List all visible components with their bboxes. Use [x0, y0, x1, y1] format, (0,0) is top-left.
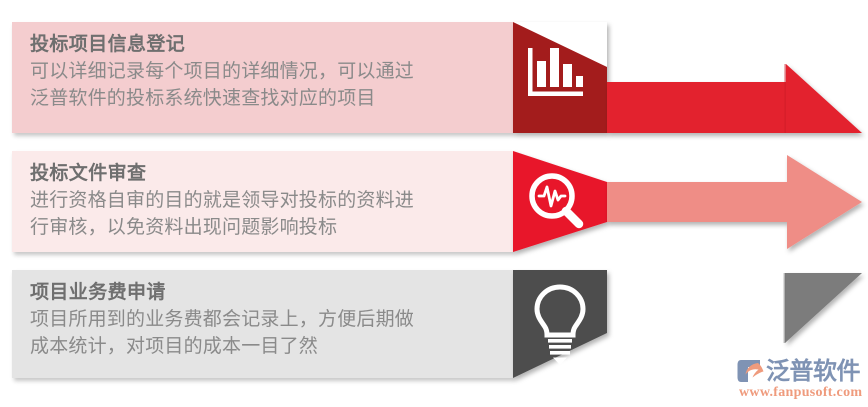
- step-3-body-line-1: 项目所用到的业务费都会记录上，方便后期做: [30, 307, 497, 334]
- step-1-title: 投标项目信息登记: [30, 32, 497, 59]
- step-3-body: 项目所用到的业务费都会记录上，方便后期做 成本统计，对项目的成本一目了然: [30, 307, 497, 361]
- step-2-body: 进行资格自审的目的就是领导对投标的资料进 行审核，以免资料出现问题影响投标: [30, 188, 497, 242]
- infographic-canvas: 投标项目信息登记 可以详细记录每个项目的详细情况，可以通过 泛普软件的投标系统快…: [0, 0, 868, 407]
- step-2-text-panel: 投标文件审查 进行资格自审的目的就是领导对投标的资料进 行审核，以免资料出现问题…: [12, 151, 513, 252]
- bar-chart-icon: [528, 48, 583, 96]
- step-1-body-line-2: 泛普软件的投标系统快速查找对应的项目: [30, 86, 497, 113]
- step-1-body-line-1: 可以详细记录每个项目的详细情况，可以通过: [30, 59, 497, 86]
- step-1-icon-block-diagonal: [513, 22, 607, 67]
- step-2-body-line-2: 行审核，以免资料出现问题影响投标: [30, 215, 497, 242]
- step-1-body: 可以详细记录每个项目的详细情况，可以通过 泛普软件的投标系统快速查找对应的项目: [30, 59, 497, 113]
- step-1-icon-block: [513, 22, 607, 133]
- step-2-title: 投标文件审查: [30, 161, 497, 188]
- step-3-body-line-2: 成本统计，对项目的成本一目了然: [30, 334, 497, 361]
- step-3-title: 项目业务费申请: [30, 280, 497, 307]
- brand-logo-name: 泛普软件: [766, 358, 860, 384]
- step-1-arrow: [607, 64, 862, 133]
- magnifier-pulse-icon: [532, 176, 579, 224]
- brand-logo-url: www.fanpusoft.com: [739, 385, 862, 401]
- arrow-graphics-layer: [495, 0, 868, 407]
- step-1-arrow-seam: [784, 64, 786, 133]
- step-3-text-panel: 项目业务费申请 项目所用到的业务费都会记录上，方便后期做 成本统计，对项目的成本…: [12, 270, 513, 378]
- brand-logo-top: 泛普软件: [737, 356, 860, 386]
- step-3-icon-block: [513, 270, 607, 378]
- step-1-text-panel: 投标项目信息登记 可以详细记录每个项目的详细情况，可以通过 泛普软件的投标系统快…: [12, 22, 513, 133]
- fanpu-swoosh-logo-icon: [737, 358, 764, 384]
- step-2-arrow: [607, 155, 862, 249]
- step-2-body-line-1: 进行资格自审的目的就是领导对投标的资料进: [30, 188, 497, 215]
- lightbulb-icon: [537, 287, 583, 365]
- brand-logo: 泛普软件 www.fanpusoft.com: [737, 356, 863, 402]
- step-2-icon-block: [513, 151, 607, 252]
- step-3-arrow-seam: [784, 273, 786, 343]
- step-3-arrow: [607, 273, 862, 343]
- step-1-icon-block-bevel: [513, 22, 607, 68]
